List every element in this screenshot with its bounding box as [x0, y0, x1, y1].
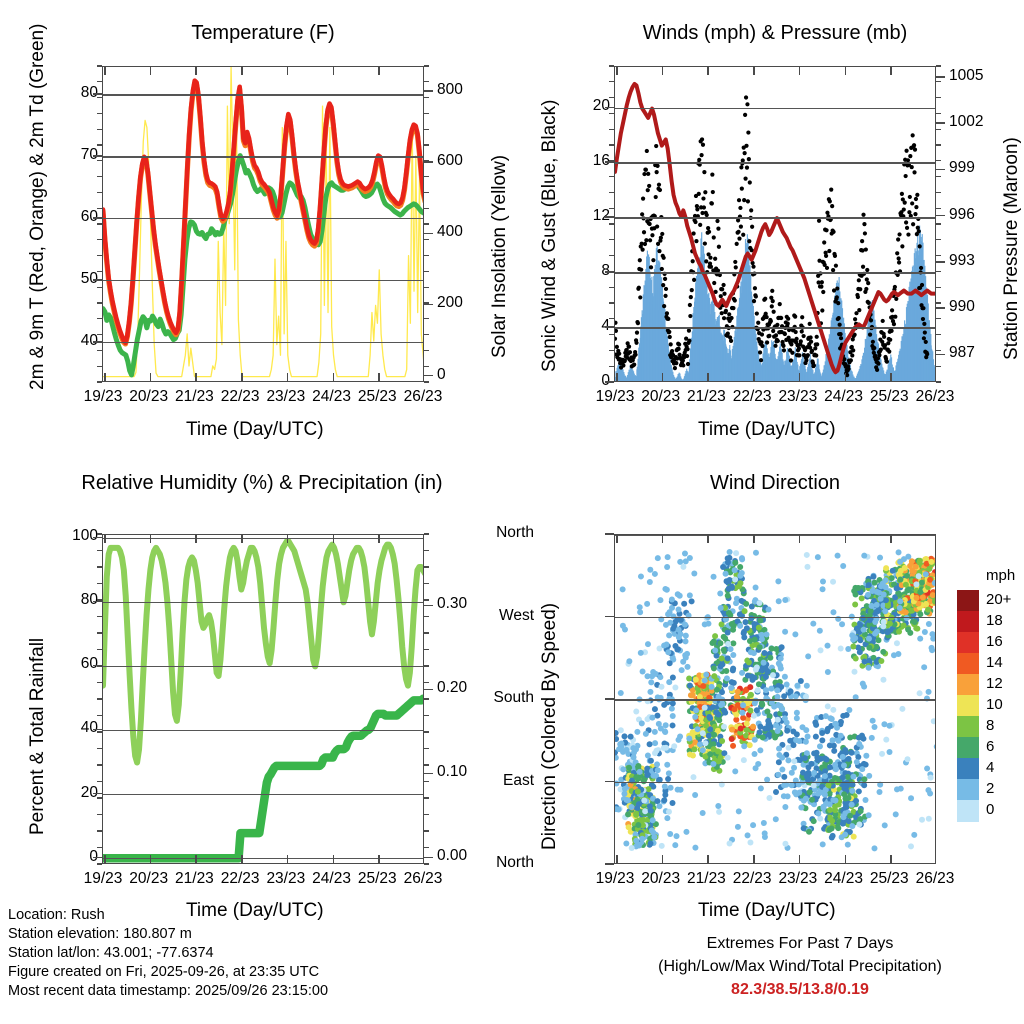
colorbar-label: 0: [986, 801, 994, 818]
y-axis-minor-tick: [609, 160, 614, 161]
y-axis-minor-tick: [97, 223, 102, 224]
y-axis-minor-tick: [424, 764, 429, 765]
x-axis-tick: [287, 67, 289, 75]
y-axis-minor-tick: [97, 381, 102, 382]
x-tick-label: 24/23: [819, 870, 869, 888]
y-axis-minor-tick: [97, 830, 102, 831]
y-axis-minor-tick: [424, 830, 429, 831]
winds-series-canvas: [615, 67, 936, 382]
y-axis-minor-tick: [936, 381, 941, 382]
x-axis-tick: [799, 535, 801, 543]
colorbar-segment: [957, 653, 979, 675]
colorbar-label: 14: [986, 654, 1003, 671]
y-axis-minor-tick: [97, 176, 102, 177]
x-tick-label: 20/23: [124, 870, 174, 888]
x-axis-tick: [799, 855, 801, 863]
x-axis-tick: [104, 855, 106, 863]
y-axis-minor-tick: [936, 302, 941, 303]
y-axis-minor-tick: [97, 781, 102, 782]
x-axis-tick: [378, 373, 380, 381]
x-axis-tick: [287, 373, 289, 381]
temperature-series-canvas: [103, 67, 424, 382]
y-axis-minor-tick: [936, 65, 941, 66]
y-tick-label: 8: [554, 262, 610, 280]
y-axis-minor-tick: [97, 814, 102, 815]
y-axis-minor-tick: [609, 255, 614, 256]
y-tick-label: 400: [437, 223, 463, 241]
x-axis-tick: [241, 67, 243, 75]
x-tick-label: 25/23: [352, 388, 402, 406]
y-axis-minor-tick: [424, 814, 429, 815]
colorbar-label: 12: [986, 675, 1003, 692]
x-axis-tick: [616, 373, 618, 381]
y-axis-tick: [605, 698, 614, 700]
y-axis-minor-tick: [424, 255, 429, 256]
colorbar-segment: [957, 800, 979, 822]
x-axis-tick: [150, 535, 152, 543]
y-tick-label: 80: [42, 591, 98, 609]
y-axis-tick: [605, 533, 614, 535]
y-axis-minor-tick: [424, 797, 429, 798]
y-tick-label: 4: [554, 317, 610, 335]
x-tick-label: 23/23: [773, 870, 823, 888]
y-axis-minor-tick: [424, 271, 429, 272]
y-axis-minor-tick: [936, 97, 941, 98]
y-axis-minor-tick: [609, 381, 614, 382]
y-axis-minor-tick: [424, 781, 429, 782]
y-axis-minor-tick: [97, 160, 102, 161]
colorbar-segment: [957, 674, 979, 696]
x-axis-tick: [241, 373, 243, 381]
x-axis-tick: [287, 855, 289, 863]
gridline: [103, 342, 423, 343]
x-axis-tick: [241, 855, 243, 863]
y-axis-tick: [424, 689, 433, 691]
x-axis-tick: [104, 373, 106, 381]
gridline: [615, 863, 935, 864]
y-axis-tick: [93, 341, 102, 343]
colorbar-label: 2: [986, 780, 994, 797]
y-axis-minor-tick: [609, 208, 614, 209]
y-axis-tick: [936, 169, 945, 171]
x-axis-tick: [378, 855, 380, 863]
y-axis-minor-tick: [424, 318, 429, 319]
x-axis-tick: [333, 855, 335, 863]
humidity-plot-area: [102, 534, 424, 864]
y-tick-label: 12: [554, 207, 610, 225]
y-axis-minor-tick: [97, 616, 102, 617]
x-axis-tick: [890, 855, 892, 863]
x-tick-label: 26/23: [398, 388, 448, 406]
y-tick-label: 999: [949, 159, 975, 177]
x-tick-label: 21/23: [169, 870, 219, 888]
figure-created: Figure created on Fri, 2025-09-26, at 23…: [8, 963, 319, 983]
winds-plot-area: [614, 66, 936, 382]
y-axis-minor-tick: [97, 65, 102, 66]
y-tick-label: West: [468, 607, 534, 625]
x-tick-label: 19/23: [590, 388, 640, 406]
x-tick-label: 26/23: [910, 870, 960, 888]
x-axis-tick: [378, 67, 380, 75]
x-axis-tick: [287, 535, 289, 543]
y-axis-minor-tick: [424, 599, 429, 600]
y-axis-minor-tick: [424, 731, 429, 732]
y-axis-minor-tick: [936, 81, 941, 82]
colorbar-label: 16: [986, 633, 1003, 650]
gridline: [615, 272, 935, 273]
colorbar-label: 20+: [986, 591, 1011, 608]
y-axis-minor-tick: [97, 731, 102, 732]
y-axis-minor-tick: [97, 129, 102, 130]
y-axis-minor-tick: [97, 682, 102, 683]
y-axis-minor-tick: [936, 334, 941, 335]
y-axis-tick: [93, 217, 102, 219]
y-axis-tick: [936, 215, 945, 217]
gridline: [103, 666, 423, 667]
x-axis-tick: [707, 67, 709, 75]
gridline: [615, 699, 935, 700]
y-tick-label: 0.00: [437, 847, 467, 865]
y-axis-minor-tick: [97, 318, 102, 319]
y-axis-minor-tick: [609, 350, 614, 351]
y-tick-label: 1005: [949, 67, 983, 85]
y-axis-minor-tick: [97, 97, 102, 98]
y-axis-minor-tick: [424, 366, 429, 367]
y-axis-minor-tick: [424, 682, 429, 683]
x-axis-tick: [707, 535, 709, 543]
x-axis-tick: [799, 67, 801, 75]
y-tick-label: 990: [949, 298, 975, 316]
y-axis-minor-tick: [609, 223, 614, 224]
x-tick-label: 20/23: [636, 870, 686, 888]
extremes-subheading: (High/Low/Max Wind/Total Precipitation): [600, 955, 1000, 978]
y-tick-label: 0: [42, 848, 98, 866]
y-axis-minor-tick: [424, 533, 429, 534]
y-axis-tick: [936, 307, 945, 309]
station-elevation: Station elevation: 180.807 m: [8, 925, 192, 945]
y-axis-tick: [605, 326, 614, 328]
y-axis-minor-tick: [609, 81, 614, 82]
y-axis-minor-tick: [424, 223, 429, 224]
y-axis-minor-tick: [97, 550, 102, 551]
y-axis-minor-tick: [936, 350, 941, 351]
y-axis-minor-tick: [936, 113, 941, 114]
y-tick-label: 0: [437, 366, 446, 384]
x-tick-label: 25/23: [864, 388, 914, 406]
station-latlon: Station lat/lon: 43.001; -77.6374: [8, 944, 214, 964]
x-tick-label: 21/23: [681, 870, 731, 888]
x-tick-label: 22/23: [727, 388, 777, 406]
x-axis-tick: [241, 535, 243, 543]
y-axis-minor-tick: [936, 271, 941, 272]
x-axis-tick: [195, 535, 197, 543]
colorbar-segment: [957, 779, 979, 801]
x-tick-label: 19/23: [78, 870, 128, 888]
humidity-series-canvas: [103, 535, 424, 864]
y-axis-minor-tick: [97, 144, 102, 145]
x-tick-label: 22/23: [215, 870, 265, 888]
x-tick-label: 23/23: [261, 388, 311, 406]
y-axis-minor-tick: [609, 192, 614, 193]
y-axis-minor-tick: [936, 318, 941, 319]
gridline: [103, 156, 423, 157]
y-axis-tick: [424, 161, 433, 163]
x-tick-label: 25/23: [864, 870, 914, 888]
y-axis-minor-tick: [97, 583, 102, 584]
x-tick-label: 21/23: [681, 388, 731, 406]
y-tick-label: 987: [949, 344, 975, 362]
x-tick-label: 23/23: [261, 870, 311, 888]
y-axis-minor-tick: [97, 239, 102, 240]
y-axis-minor-tick: [97, 797, 102, 798]
y-axis-tick: [93, 93, 102, 95]
y-axis-minor-tick: [97, 113, 102, 114]
x-axis-tick: [753, 855, 755, 863]
temperature-title: Temperature (F): [102, 22, 424, 45]
y-axis-minor-tick: [609, 176, 614, 177]
y-axis-minor-tick: [936, 223, 941, 224]
y-axis-minor-tick: [424, 144, 429, 145]
y-axis-minor-tick: [424, 129, 429, 130]
y-axis-tick: [605, 161, 614, 163]
y-axis-minor-tick: [936, 129, 941, 130]
y-tick-label: 0.10: [437, 763, 467, 781]
colorbar-label: 8: [986, 717, 994, 734]
gridline: [615, 782, 935, 783]
x-tick-label: 25/23: [352, 870, 402, 888]
y-axis-minor-tick: [424, 649, 429, 650]
x-tick-label: 24/23: [307, 388, 357, 406]
x-tick-label: 24/23: [819, 388, 869, 406]
x-axis-tick: [104, 67, 106, 75]
y-tick-label: 200: [437, 294, 463, 312]
y-tick-label: 100: [42, 527, 98, 545]
colorbar-title: mph: [986, 567, 1015, 584]
y-axis-minor-tick: [609, 302, 614, 303]
x-axis-tick: [104, 535, 106, 543]
y-tick-label: 0.30: [437, 595, 467, 613]
y-axis-minor-tick: [424, 208, 429, 209]
x-axis-tick: [195, 855, 197, 863]
y-axis-tick: [605, 616, 614, 618]
y-tick-label: North: [468, 524, 534, 542]
y-axis-minor-tick: [609, 366, 614, 367]
x-axis-tick: [845, 535, 847, 543]
x-axis-tick: [662, 373, 664, 381]
y-axis-minor-tick: [424, 863, 429, 864]
y-tick-label: 80: [42, 84, 98, 102]
y-tick-label: 1002: [949, 113, 983, 131]
y-tick-label: 20: [554, 97, 610, 115]
y-axis-tick: [424, 90, 433, 92]
x-tick-label: 24/23: [307, 870, 357, 888]
x-axis-tick: [150, 855, 152, 863]
x-axis-tick: [662, 67, 664, 75]
y-tick-label: East: [468, 772, 534, 790]
x-axis-tick: [753, 67, 755, 75]
y-axis-minor-tick: [97, 632, 102, 633]
wind-direction-title: Wind Direction: [614, 472, 936, 495]
y-axis-minor-tick: [424, 698, 429, 699]
y-axis-minor-tick: [424, 632, 429, 633]
y-axis-minor-tick: [424, 381, 429, 382]
x-axis-tick: [845, 855, 847, 863]
x-axis-tick: [845, 67, 847, 75]
y-axis-minor-tick: [97, 665, 102, 666]
y-axis-minor-tick: [97, 192, 102, 193]
y-axis-minor-tick: [936, 192, 941, 193]
y-axis-minor-tick: [936, 287, 941, 288]
wind-direction-y-axis-label: Direction (Colored By Speed): [539, 603, 561, 850]
y-axis-minor-tick: [936, 160, 941, 161]
x-axis-tick: [662, 535, 664, 543]
gridline: [615, 217, 935, 218]
y-axis-minor-tick: [97, 748, 102, 749]
y-axis-minor-tick: [424, 566, 429, 567]
y-axis-tick: [936, 354, 945, 356]
gridline: [103, 94, 423, 95]
y-axis-tick: [93, 155, 102, 157]
y-tick-label: 40: [42, 719, 98, 737]
y-axis-minor-tick: [609, 144, 614, 145]
y-axis-minor-tick: [609, 129, 614, 130]
x-axis-tick: [753, 373, 755, 381]
y-axis-minor-tick: [609, 239, 614, 240]
y-axis-tick: [93, 857, 102, 859]
wind-speed-colorbar: [957, 590, 979, 821]
y-tick-label: 50: [42, 270, 98, 288]
y-axis-minor-tick: [936, 366, 941, 367]
x-tick-label: 19/23: [590, 870, 640, 888]
humidity-x-axis-label: Time (Day/UTC): [186, 900, 324, 922]
y-axis-tick: [424, 304, 433, 306]
x-tick-label: 26/23: [910, 388, 960, 406]
winds-x-axis-label: Time (Day/UTC): [698, 419, 836, 441]
y-axis-minor-tick: [424, 176, 429, 177]
y-tick-label: 60: [42, 655, 98, 673]
most-recent-timestamp: Most recent data timestamp: 2025/09/26 2…: [8, 982, 328, 1002]
y-axis-minor-tick: [424, 81, 429, 82]
y-tick-label: 16: [554, 152, 610, 170]
temperature-right-axis-label: Solar Insolation (Yellow): [489, 155, 511, 358]
y-axis-minor-tick: [936, 255, 941, 256]
y-axis-minor-tick: [97, 334, 102, 335]
x-axis-tick: [845, 373, 847, 381]
y-axis-tick: [424, 605, 433, 607]
y-tick-label: 20: [42, 784, 98, 802]
x-axis-tick: [150, 373, 152, 381]
y-tick-label: North: [468, 854, 534, 872]
y-axis-tick: [93, 279, 102, 281]
humidity-title: Relative Humidity (%) & Precipitation (i…: [62, 472, 462, 495]
y-axis-minor-tick: [936, 239, 941, 240]
x-axis-tick: [333, 535, 335, 543]
y-axis-minor-tick: [424, 287, 429, 288]
gridline: [615, 108, 935, 109]
colorbar-label: 4: [986, 759, 994, 776]
weather-dashboard: Temperature (F) 2m & 9m T (Red, Orange) …: [0, 0, 1024, 1024]
y-axis-minor-tick: [936, 176, 941, 177]
extremes-heading: Extremes For Past 7 Days: [600, 932, 1000, 955]
colorbar-segment: [957, 611, 979, 633]
wind-direction-x-axis-label: Time (Day/UTC): [698, 900, 836, 922]
y-tick-label: 0: [554, 372, 610, 390]
y-axis-minor-tick: [97, 533, 102, 534]
colorbar-segment: [957, 632, 979, 654]
x-tick-label: 23/23: [773, 388, 823, 406]
x-axis-tick: [707, 855, 709, 863]
y-axis-tick: [605, 107, 614, 109]
x-axis-tick: [195, 67, 197, 75]
y-axis-minor-tick: [97, 81, 102, 82]
y-axis-tick: [605, 863, 614, 865]
x-tick-label: 22/23: [727, 870, 777, 888]
y-axis-tick: [605, 781, 614, 783]
y-axis-tick: [936, 261, 945, 263]
y-axis-minor-tick: [97, 599, 102, 600]
y-axis-minor-tick: [97, 208, 102, 209]
y-axis-tick: [424, 233, 433, 235]
y-axis-minor-tick: [424, 302, 429, 303]
y-axis-minor-tick: [97, 847, 102, 848]
x-tick-label: 19/23: [78, 388, 128, 406]
y-axis-minor-tick: [424, 665, 429, 666]
y-axis-minor-tick: [424, 65, 429, 66]
y-axis-minor-tick: [424, 334, 429, 335]
colorbar-segment: [957, 758, 979, 780]
x-axis-tick: [616, 535, 618, 543]
gridline: [103, 794, 423, 795]
y-axis-minor-tick: [609, 287, 614, 288]
y-tick-label: 800: [437, 81, 463, 99]
y-tick-label: 40: [42, 332, 98, 350]
x-axis-tick: [890, 535, 892, 543]
y-axis-minor-tick: [97, 302, 102, 303]
x-axis-tick: [195, 373, 197, 381]
x-tick-label: 22/23: [215, 388, 265, 406]
temperature-plot-area: [102, 66, 424, 382]
y-axis-tick: [424, 857, 433, 859]
y-axis-minor-tick: [97, 350, 102, 351]
y-axis-minor-tick: [424, 239, 429, 240]
y-axis-minor-tick: [97, 366, 102, 367]
y-axis-minor-tick: [609, 113, 614, 114]
y-axis-minor-tick: [424, 113, 429, 114]
wind-direction-plot-area: [614, 534, 936, 864]
y-axis-minor-tick: [97, 649, 102, 650]
y-axis-minor-tick: [424, 748, 429, 749]
x-axis-tick: [890, 67, 892, 75]
y-axis-minor-tick: [424, 847, 429, 848]
y-axis-minor-tick: [97, 566, 102, 567]
x-tick-label: 20/23: [124, 388, 174, 406]
y-axis-minor-tick: [97, 287, 102, 288]
y-axis-tick: [936, 76, 945, 78]
y-axis-minor-tick: [424, 97, 429, 98]
y-axis-minor-tick: [424, 192, 429, 193]
x-axis-tick: [662, 855, 664, 863]
y-axis-minor-tick: [424, 616, 429, 617]
gridline: [615, 617, 935, 618]
y-tick-label: South: [468, 689, 534, 707]
y-axis-tick: [424, 375, 433, 377]
winds-title: Winds (mph) & Pressure (mb): [614, 22, 936, 45]
colorbar-segment: [957, 590, 979, 612]
y-axis-minor-tick: [97, 271, 102, 272]
y-axis-tick: [936, 122, 945, 124]
y-axis-minor-tick: [424, 715, 429, 716]
y-axis-minor-tick: [97, 698, 102, 699]
